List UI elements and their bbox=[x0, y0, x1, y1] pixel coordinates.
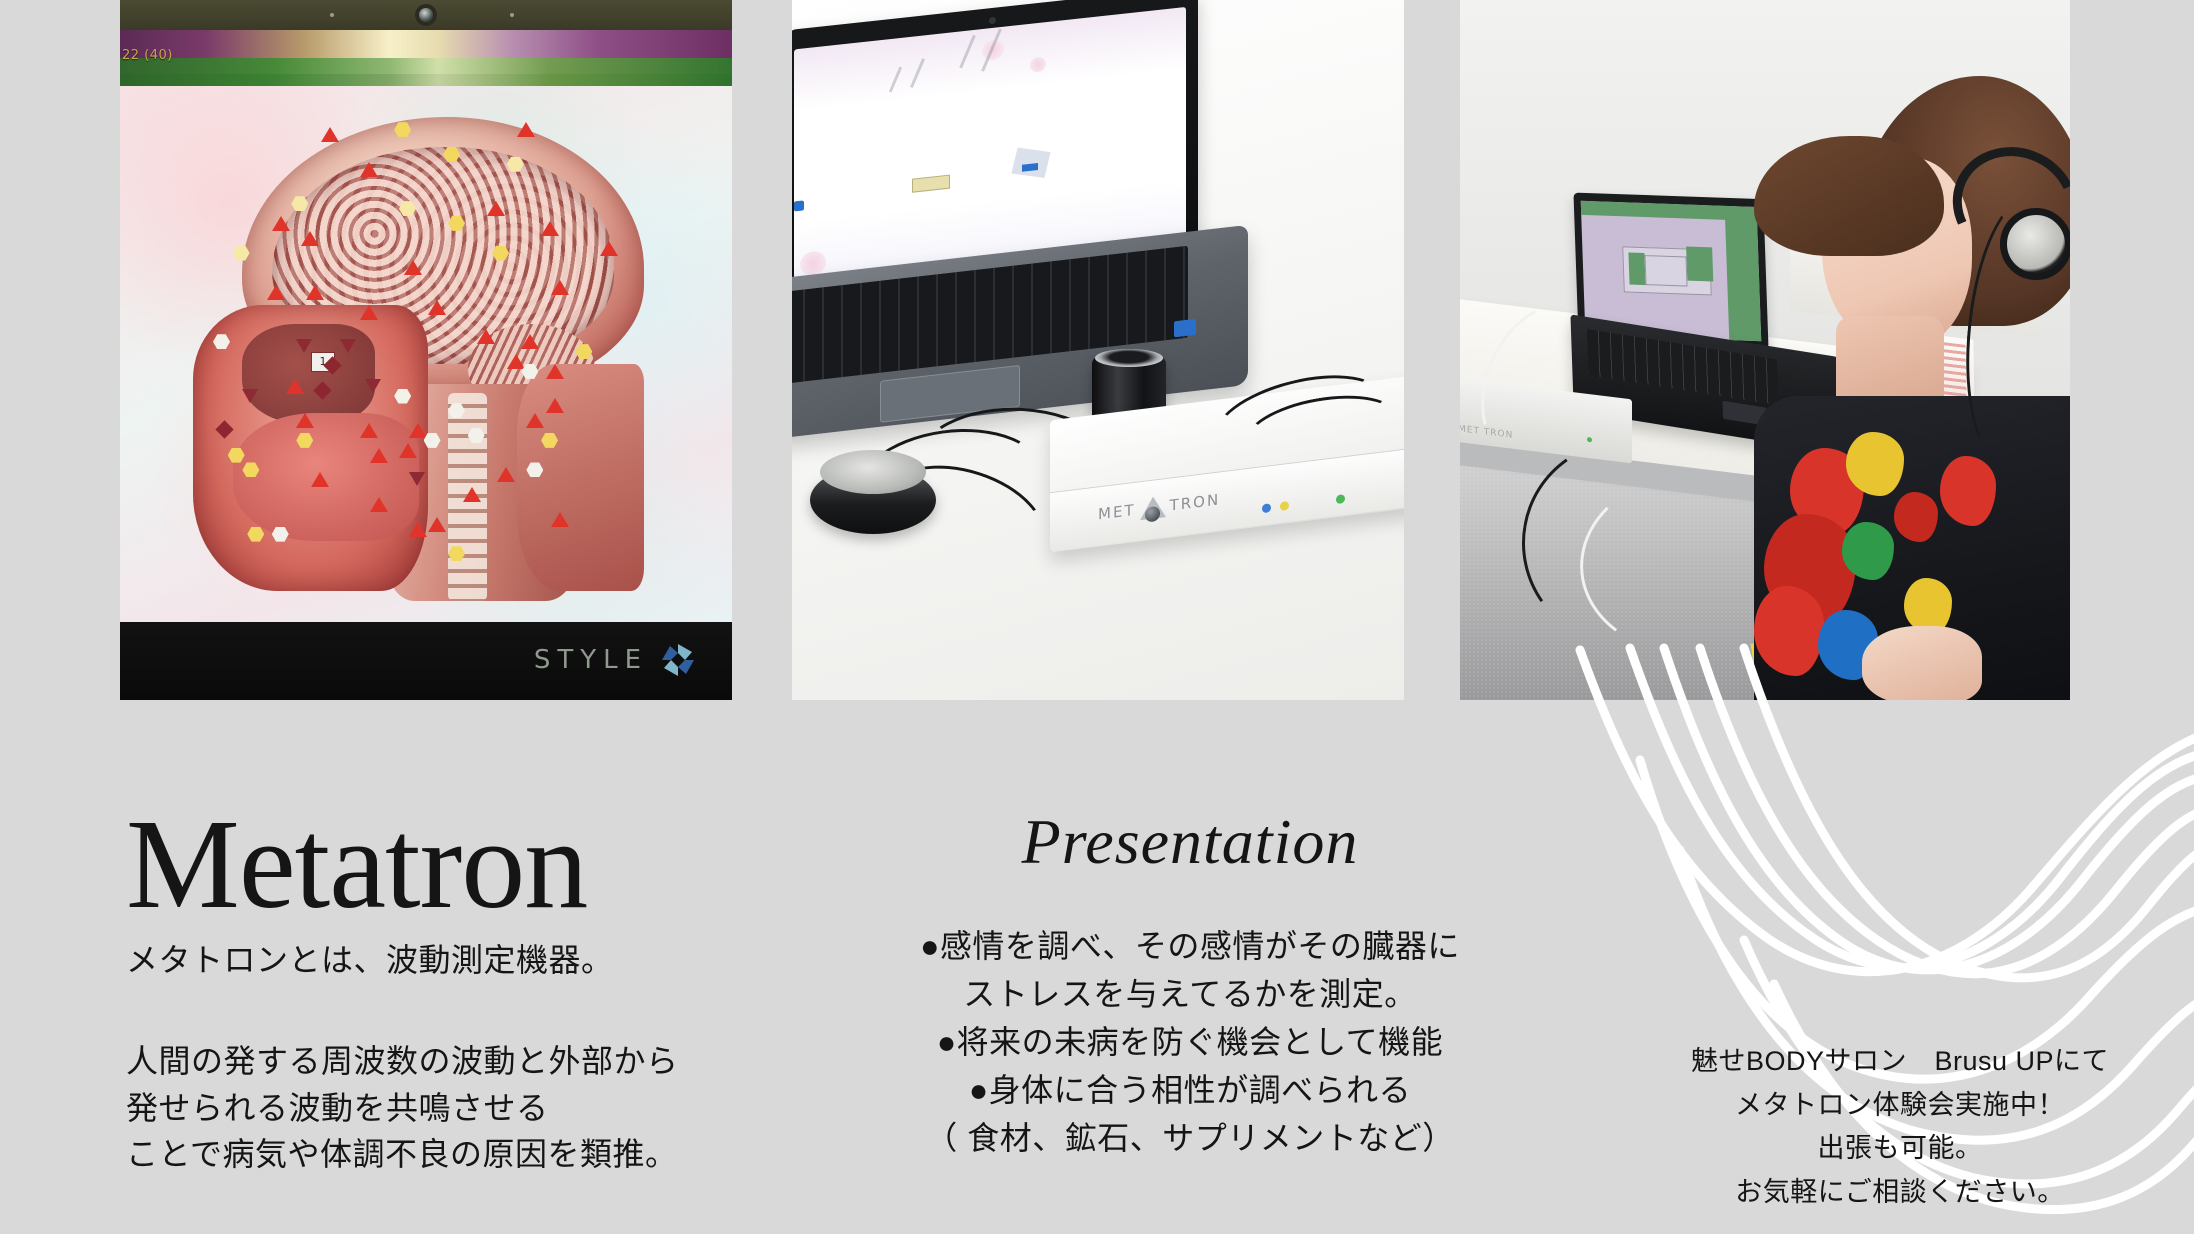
right-text-column: 魅せBODYサロン Brusu UPにて メタトロン体験会実施中！ 出張も可能。… bbox=[1640, 1040, 2160, 1215]
marker-triangle bbox=[370, 497, 388, 512]
metatron-label-met: MET bbox=[1098, 501, 1136, 524]
marker-triangle-down bbox=[242, 389, 258, 403]
status-led-blue bbox=[1262, 503, 1271, 513]
salon-info-line: お気軽にご相談ください。 bbox=[1640, 1171, 2160, 1215]
marker-triangle-down bbox=[296, 339, 312, 353]
sweater-pattern bbox=[1754, 586, 1824, 676]
headset-sensor-device bbox=[810, 466, 936, 534]
marker-triangle bbox=[546, 398, 564, 413]
person-subject bbox=[1754, 66, 2070, 700]
app-inner-panel bbox=[1644, 255, 1687, 287]
desktop-icon bbox=[794, 200, 804, 211]
lead-text: メタトロンとは、波動測定機器。 bbox=[126, 936, 780, 984]
marker-triangle-down bbox=[365, 379, 381, 393]
marker-triangle bbox=[463, 487, 481, 502]
hands bbox=[1862, 626, 1982, 700]
screen-counter-label: 22 (40) bbox=[122, 48, 173, 63]
marker-triangle bbox=[306, 285, 324, 300]
bullet-item: ●感情を調べ、その感情がその臓器に bbox=[860, 922, 1520, 970]
metatron-triangle-icon bbox=[1140, 495, 1166, 520]
marker-triangle bbox=[521, 334, 539, 349]
marker-triangle bbox=[541, 221, 559, 236]
salon-info-line: 出張も可能。 bbox=[1640, 1127, 2160, 1171]
marker-triangle bbox=[272, 216, 290, 231]
metatron-wordmark: MET TRON bbox=[1098, 488, 1220, 525]
wallpaper-flower bbox=[1030, 56, 1046, 73]
laptop-lid-bottom: STYLE bbox=[120, 622, 732, 700]
wallpaper-streak bbox=[959, 35, 976, 68]
app-block bbox=[1628, 252, 1645, 285]
status-led-green bbox=[1587, 437, 1592, 443]
marker-triangle bbox=[286, 379, 304, 394]
marker-triangle bbox=[600, 241, 618, 256]
middle-text-column: Presentation ●感情を調べ、その感情がその臓器に ストレスを与えてる… bbox=[860, 810, 1520, 1162]
salon-info-line: メタトロン体験会実施中！ bbox=[1640, 1084, 2160, 1128]
feature-bullet-list: ●感情を調べ、その感情がその臓器に ストレスを与えてるかを測定。 ●将来の未病を… bbox=[860, 922, 1520, 1162]
marker-triangle-down bbox=[340, 339, 356, 353]
style-logo: STYLE bbox=[534, 640, 698, 680]
desktop-tooltip bbox=[912, 175, 950, 193]
marker-triangle bbox=[517, 122, 535, 137]
marker-triangle bbox=[477, 329, 495, 344]
bullet-item: （ 食材、鉱石、サプリメントなど） bbox=[860, 1114, 1520, 1162]
marker-triangle bbox=[507, 354, 525, 369]
bullet-item: ●将来の未病を防ぐ機会として機能 bbox=[860, 1018, 1520, 1066]
marker-triangle bbox=[404, 260, 422, 275]
photo-measurement-session: MET TRON bbox=[1460, 0, 2070, 700]
marker-triangle bbox=[487, 201, 505, 216]
page-title: Metatron bbox=[126, 800, 780, 928]
marker-triangle bbox=[267, 285, 285, 300]
marker-triangle bbox=[428, 300, 446, 315]
marker-triangle bbox=[296, 413, 314, 428]
marker-triangle bbox=[551, 280, 569, 295]
marker-triangle bbox=[360, 305, 378, 320]
anatomy-viewport: 1 bbox=[120, 86, 732, 622]
status-led-yellow bbox=[1280, 501, 1289, 511]
presentation-title: Presentation bbox=[860, 810, 1520, 874]
marker-triangle bbox=[311, 472, 329, 487]
intel-sticker bbox=[1174, 319, 1196, 338]
marker-triangle bbox=[321, 127, 339, 142]
lid-sensor-dot bbox=[330, 13, 334, 17]
marker-triangle bbox=[497, 467, 515, 482]
anatomy-head-illustration: 1 bbox=[193, 107, 683, 600]
metatron-label-tron: TRON bbox=[1170, 490, 1221, 514]
bullet-item: ●身体に合う相性が調べられる bbox=[860, 1066, 1520, 1114]
marker-triangle bbox=[409, 423, 427, 438]
wallpaper-streak bbox=[910, 58, 925, 88]
description-paragraph: 人間の発する周波数の波動と外部から 発せられる波動を共鳴させる ことで病気や体調… bbox=[126, 1038, 780, 1178]
poster-canvas: 22 (40) 1 bbox=[0, 0, 2194, 1234]
photo-metatron-hardware: hp MET TRON bbox=[792, 0, 1404, 700]
marker-triangle bbox=[546, 364, 564, 379]
sweater-pattern bbox=[1940, 456, 1996, 526]
marker-triangle bbox=[360, 162, 378, 177]
marker-triangle bbox=[551, 512, 569, 527]
marker-triangle bbox=[301, 231, 319, 246]
hair-fringe bbox=[1754, 136, 1944, 256]
lid-sensor-dot bbox=[510, 13, 514, 17]
webcam-icon bbox=[419, 8, 433, 22]
photo-brain-scan: 22 (40) 1 bbox=[120, 0, 732, 700]
salon-info-line: 魅せBODYサロン Brusu UPにて bbox=[1640, 1040, 2160, 1084]
wallpaper-streak bbox=[889, 67, 902, 93]
style-pinwheel-icon bbox=[658, 640, 698, 680]
status-led-green bbox=[1336, 494, 1345, 504]
app-block bbox=[1686, 247, 1713, 282]
marker-triangle bbox=[360, 423, 378, 438]
marker-triangle bbox=[428, 517, 446, 532]
marker-triangle-down bbox=[409, 472, 425, 486]
bullet-item: ストレスを与えてるかを測定。 bbox=[860, 970, 1520, 1018]
marker-triangle bbox=[526, 413, 544, 428]
marker-triangle bbox=[399, 443, 417, 458]
salon-info: 魅せBODYサロン Brusu UPにて メタトロン体験会実施中！ 出張も可能。… bbox=[1640, 1040, 2160, 1215]
left-text-column: Metatron メタトロンとは、波動測定機器。 人間の発する周波数の波動と外部… bbox=[120, 800, 780, 1178]
marker-triangle bbox=[409, 522, 427, 537]
screen-color-band-green bbox=[120, 58, 732, 86]
webcam-icon bbox=[989, 17, 996, 25]
marker-triangle bbox=[370, 448, 388, 463]
sweater-pattern bbox=[1894, 492, 1938, 542]
style-wordmark: STYLE bbox=[534, 645, 648, 675]
